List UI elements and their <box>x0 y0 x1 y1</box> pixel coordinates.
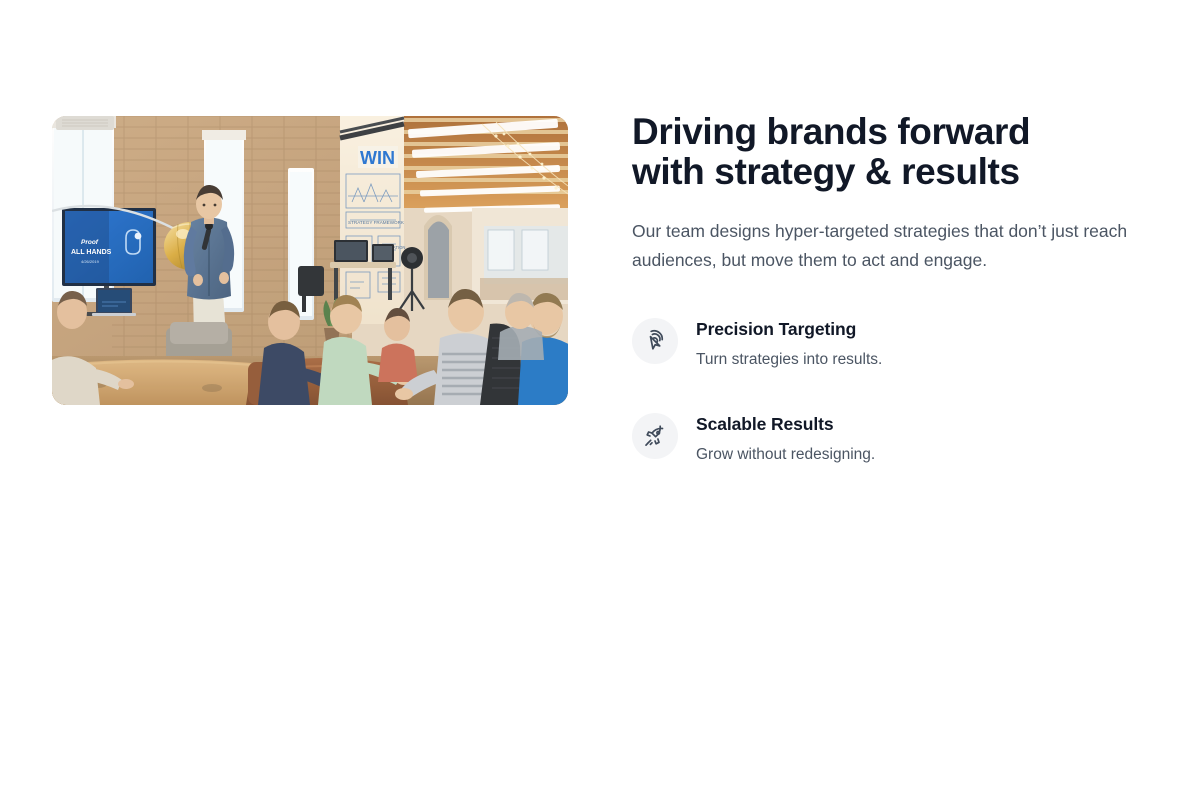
hero-subcopy: Our team designs hyper-targeted strategi… <box>632 217 1148 275</box>
feature-section: WIN <box>0 0 1200 800</box>
rocket-launch-icon <box>632 413 678 459</box>
feature-item-scalable-results: Scalable Results Grow without redesignin… <box>632 412 1148 465</box>
cursor-click-icon <box>632 318 678 364</box>
feature-title: Scalable Results <box>696 413 875 435</box>
office-meeting-photo: WIN <box>52 116 568 405</box>
page-title: Driving brands forward with strategy & r… <box>632 112 1148 192</box>
feature-list: Precision Targeting Turn strategies into… <box>632 317 1148 465</box>
feature-text-block: Precision Targeting Turn strategies into… <box>696 317 882 370</box>
feature-item-precision-targeting: Precision Targeting Turn strategies into… <box>632 317 1148 370</box>
hero-image-container: WIN <box>52 116 568 405</box>
hero-copy-column: Driving brands forward with strategy & r… <box>632 112 1148 465</box>
feature-description: Turn strategies into results. <box>696 349 882 370</box>
feature-description: Grow without redesigning. <box>696 444 875 465</box>
feature-text-block: Scalable Results Grow without redesignin… <box>696 412 875 465</box>
feature-title: Precision Targeting <box>696 318 882 340</box>
